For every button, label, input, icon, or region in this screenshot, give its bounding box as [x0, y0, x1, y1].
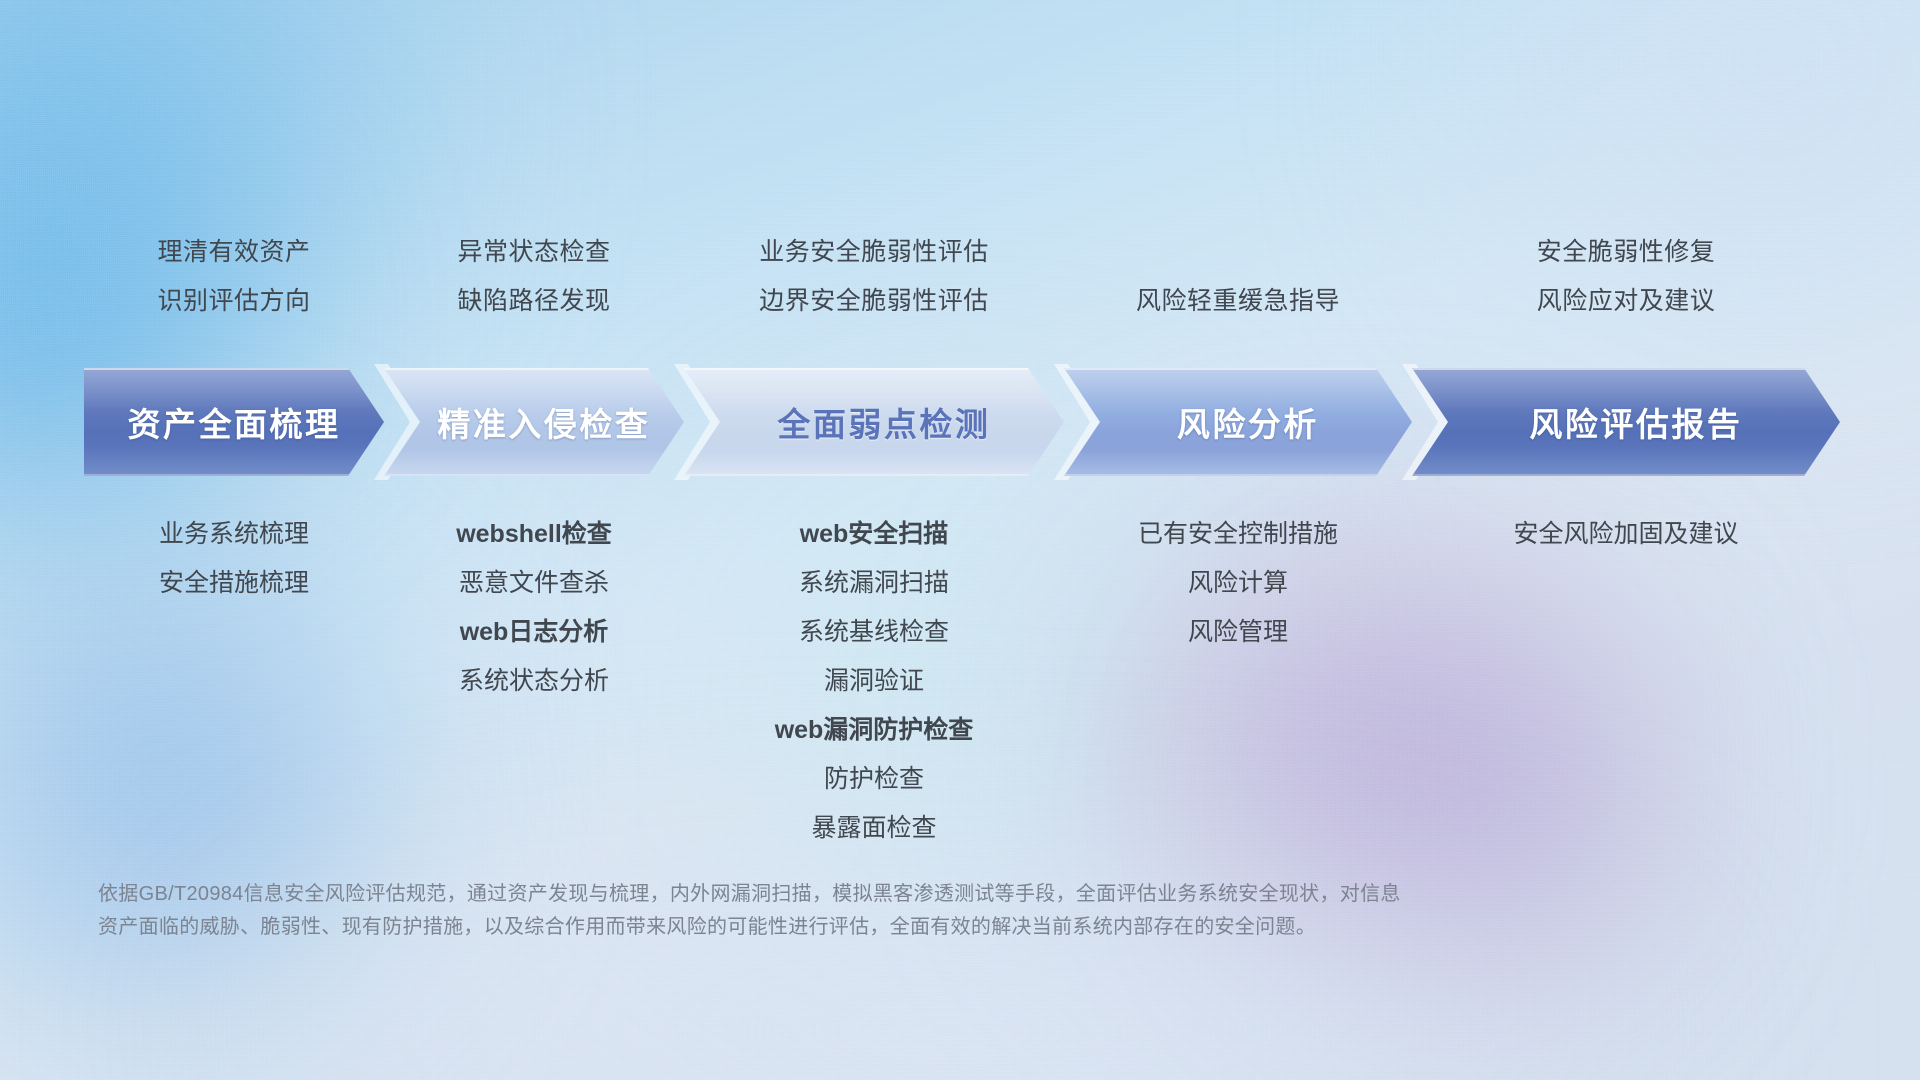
stage-lower-labels-intrusion-check: webshell检查恶意文件查杀web日志分析系统状态分析: [384, 510, 684, 853]
chevron-top-edge: [1064, 368, 1412, 370]
stage-lower-label: 漏洞验证: [684, 657, 1064, 706]
stage-lower-label: 恶意文件查杀: [384, 559, 684, 608]
stage-upper-labels-intrusion-check: 异常状态检查缺陷路径发现: [384, 228, 684, 326]
stage-upper-label: 异常状态检查: [384, 228, 684, 277]
stage-upper-labels-row: 理清有效资产识别评估方向异常状态检查缺陷路径发现业务安全脆弱性评估边界安全脆弱性…: [84, 228, 1840, 326]
stage-lower-labels-risk-report: 安全风险加固及建议: [1412, 510, 1840, 853]
chevron-bottom-edge: [1412, 474, 1840, 476]
chevron-top-edge: [384, 368, 684, 370]
stage-lower-label: 系统漏洞扫描: [684, 559, 1064, 608]
stage-upper-label: 理清有效资产: [84, 228, 384, 277]
stage-lower-label: 安全措施梳理: [84, 559, 384, 608]
footnote-paragraph: 依据GB/T20984信息安全风险评估规范，通过资产发现与梳理，内外网漏洞扫描，…: [98, 878, 1718, 944]
stage-lower-label: web安全扫描: [684, 510, 1064, 559]
stage-chevron-label: 精准入侵检查: [437, 398, 650, 446]
stage-lower-label: 防护检查: [684, 755, 1064, 804]
stage-lower-label: web漏洞防护检查: [684, 706, 1064, 755]
stage-lower-labels-weakness-detection: web安全扫描系统漏洞扫描系统基线检查漏洞验证web漏洞防护检查防护检查暴露面检…: [684, 510, 1064, 853]
stage-lower-label: 业务系统梳理: [84, 510, 384, 559]
stage-lower-label: webshell检查: [384, 510, 684, 559]
stage-lower-label: 已有安全控制措施: [1064, 510, 1412, 559]
stage-upper-labels-risk-report: 安全脆弱性修复风险应对及建议: [1412, 228, 1840, 326]
stage-chevron-label: 风险分析: [1177, 398, 1319, 446]
stage-upper-label: 安全脆弱性修复: [1412, 228, 1840, 277]
stage-chevron-risk-analysis[interactable]: 风险分析: [1064, 368, 1412, 476]
chevron-bottom-edge: [684, 474, 1064, 476]
stage-chevron-risk-report[interactable]: 风险评估报告: [1412, 368, 1840, 476]
stage-chevron-label: 全面弱点检测: [777, 398, 990, 446]
stage-lower-labels-risk-analysis: 已有安全控制措施风险计算风险管理: [1064, 510, 1412, 853]
stage-lower-label: 暴露面检查: [684, 804, 1064, 853]
stage-chevron-label: 资产全面梳理: [128, 398, 341, 446]
stage-chevron-asset-inventory[interactable]: 资产全面梳理: [84, 368, 384, 476]
stage-upper-label: 业务安全脆弱性评估: [684, 228, 1064, 277]
chevron-top-edge: [1412, 368, 1840, 370]
stage-upper-label: 识别评估方向: [84, 277, 384, 326]
stage-lower-label: 风险管理: [1064, 608, 1412, 657]
stage-chevron-intrusion-check[interactable]: 精准入侵检查: [384, 368, 684, 476]
stage-lower-labels-row: 业务系统梳理安全措施梳理webshell检查恶意文件查杀web日志分析系统状态分…: [84, 510, 1840, 853]
stage-upper-label: 风险轻重缓急指导: [1064, 277, 1412, 326]
stage-upper-labels-asset-inventory: 理清有效资产识别评估方向: [84, 228, 384, 326]
stage-upper-label: 风险应对及建议: [1412, 277, 1840, 326]
stage-upper-label: 缺陷路径发现: [384, 277, 684, 326]
chevron-bottom-edge: [84, 474, 384, 476]
chevron-bottom-edge: [1064, 474, 1412, 476]
stage-upper-label: 边界安全脆弱性评估: [684, 277, 1064, 326]
stage-upper-labels-weakness-detection: 业务安全脆弱性评估边界安全脆弱性评估: [684, 228, 1064, 326]
chevron-top-edge: [684, 368, 1064, 370]
chevron-top-edge: [84, 368, 384, 370]
stage-lower-label: 系统基线检查: [684, 608, 1064, 657]
stage-lower-label: 系统状态分析: [384, 657, 684, 706]
process-diagram: 理清有效资产识别评估方向异常状态检查缺陷路径发现业务安全脆弱性评估边界安全脆弱性…: [0, 0, 1920, 1080]
process-stage-banner: 资产全面梳理精准入侵检查全面弱点检测风险分析风险评估报告: [84, 368, 1844, 476]
stage-lower-labels-asset-inventory: 业务系统梳理安全措施梳理: [84, 510, 384, 853]
stage-lower-label: 安全风险加固及建议: [1412, 510, 1840, 559]
stage-chevron-weakness-detection[interactable]: 全面弱点检测: [684, 368, 1064, 476]
footnote-line-2: 资产面临的威胁、脆弱性、现有防护措施，以及综合作用而带来风险的可能性进行评估，全…: [98, 911, 1718, 944]
footnote-line-1: 依据GB/T20984信息安全风险评估规范，通过资产发现与梳理，内外网漏洞扫描，…: [98, 878, 1718, 911]
stage-chevron-label: 风险评估报告: [1529, 398, 1742, 446]
stage-lower-label: web日志分析: [384, 608, 684, 657]
stage-upper-labels-risk-analysis: 风险轻重缓急指导: [1064, 228, 1412, 326]
chevron-bottom-edge: [384, 474, 684, 476]
stage-lower-label: 风险计算: [1064, 559, 1412, 608]
